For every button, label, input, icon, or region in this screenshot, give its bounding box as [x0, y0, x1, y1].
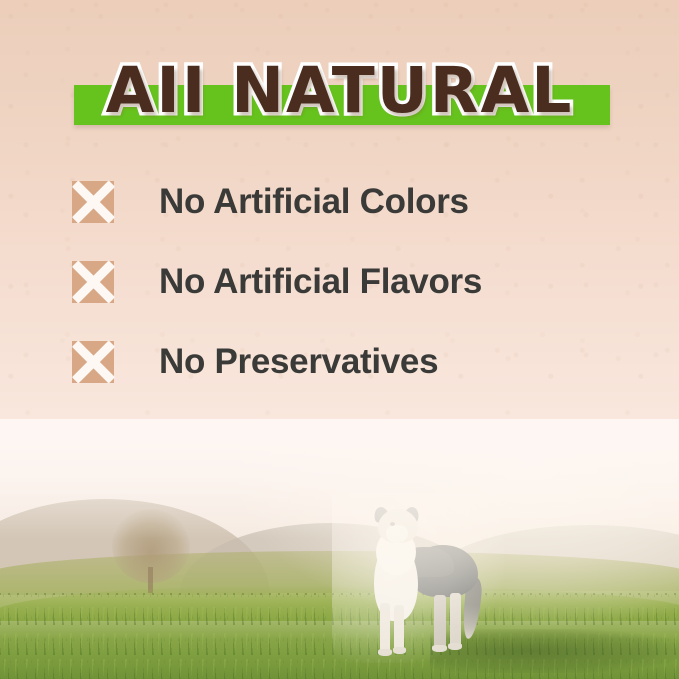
dog-muzzle: [386, 525, 408, 543]
dog-hind-leg-left: [434, 595, 446, 651]
dog-hind-paw-left: [432, 645, 447, 652]
x-mark-icon: [72, 181, 114, 223]
dog-front-paw-left: [378, 649, 392, 656]
dog-front-leg-right: [394, 605, 404, 653]
dog-hind-leg-right: [450, 593, 461, 649]
list-item: No Artificial Flavors: [72, 258, 639, 306]
x-mark-icon: [72, 341, 114, 383]
dog-hind-paw-right: [448, 643, 462, 650]
x-mark-icon: [72, 261, 114, 303]
headline-block: AII NATURAL: [0, 52, 679, 130]
all-natural-product-poster: AII NATURAL No Artificial Colors No Arti…: [0, 0, 679, 679]
list-item: No Preservatives: [72, 338, 639, 386]
list-item-label: No Artificial Colors: [159, 182, 469, 222]
dog-front-leg-left: [380, 603, 390, 653]
list-item-label: No Preservatives: [159, 342, 438, 382]
dog-front-paw-right: [393, 647, 406, 654]
page-title: AII NATURAL: [0, 52, 679, 130]
lifestyle-photo: [0, 419, 679, 679]
list-item-label: No Artificial Flavors: [159, 262, 482, 302]
dog-illustration: [352, 507, 484, 657]
dog-eye: [390, 522, 395, 526]
list-item: No Artificial Colors: [72, 178, 639, 226]
